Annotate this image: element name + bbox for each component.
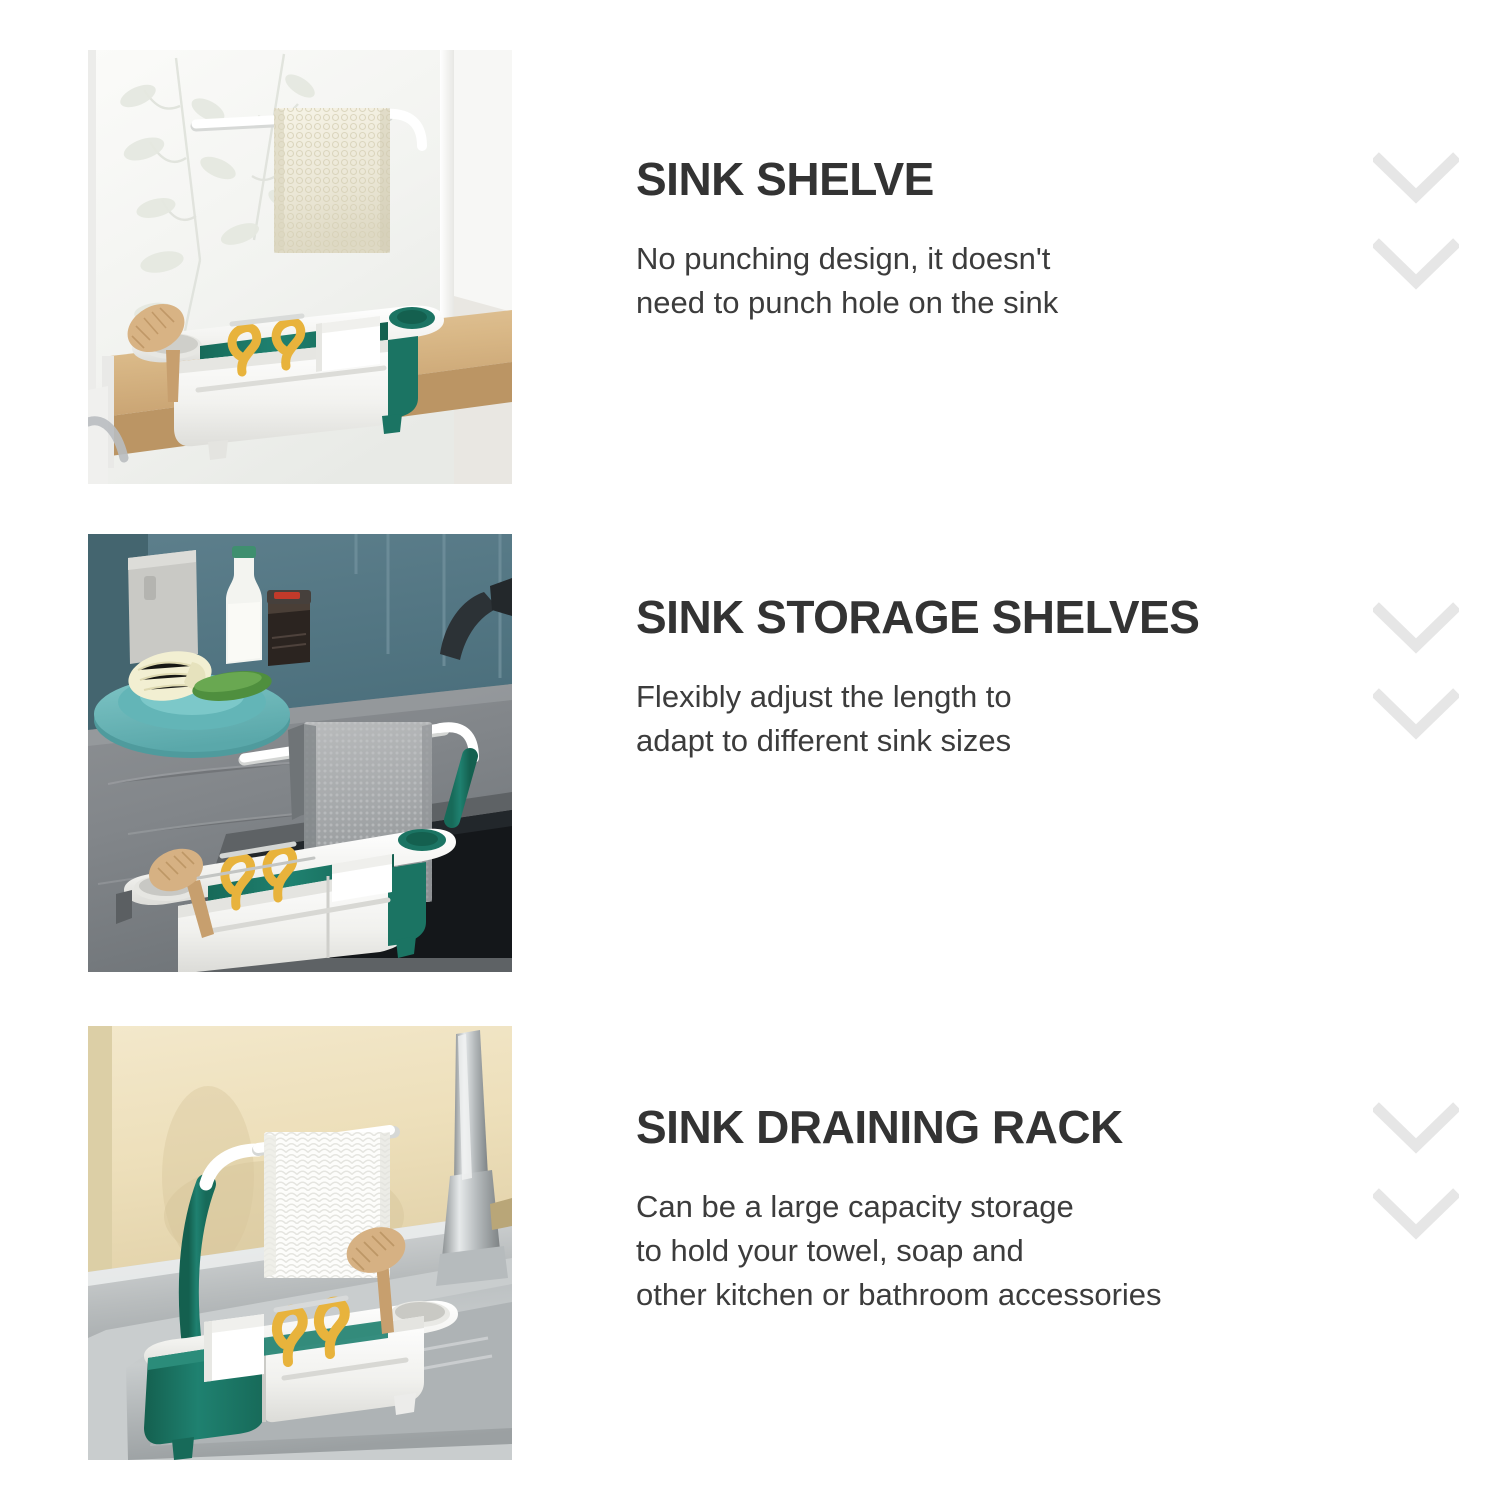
white-sponge	[204, 1314, 264, 1382]
chevron-down-icon	[1373, 236, 1459, 292]
feature-heading-1: SINK SHELVE	[636, 155, 1356, 203]
feature-body-line: to hold your towel, soap and	[636, 1229, 1356, 1273]
sink-draining-rack-on-steel-sink-photo	[88, 1026, 512, 1460]
chevron-group-3	[1373, 1100, 1459, 1242]
white-sponge	[316, 316, 380, 372]
feature-text-2: SINK STORAGE SHELVES Flexibly adjust the…	[636, 593, 1356, 763]
counter-scene-illustration	[88, 534, 512, 972]
jar	[267, 590, 311, 666]
chevron-down-icon	[1373, 1186, 1459, 1242]
feature-body-2: Flexibly adjust the length to adapt to d…	[636, 675, 1356, 763]
chevron-group-2	[1373, 600, 1459, 742]
feature-section-2: SINK STORAGE SHELVES Flexibly adjust the…	[0, 528, 1500, 978]
feature-heading-3: SINK DRAINING RACK	[636, 1103, 1356, 1151]
feature-body-line: Can be a large capacity storage	[636, 1185, 1356, 1229]
feature-text-3: SINK DRAINING RACK Can be a large capaci…	[636, 1103, 1356, 1317]
feature-section-1: SINK SHELVE No punching design, it doesn…	[0, 40, 1500, 490]
sink-storage-shelves-extended-photo	[88, 534, 512, 972]
chevron-down-icon	[1373, 686, 1459, 742]
windowsill-scene-illustration	[88, 50, 512, 484]
feature-body-line: No punching design, it doesn't	[636, 237, 1356, 281]
chevron-down-icon	[1373, 600, 1459, 656]
steel-sink-scene-illustration	[88, 1026, 512, 1460]
feature-body-3: Can be a large capacity storage to hold …	[636, 1185, 1356, 1317]
product-infographic-page: SINK SHELVE No punching design, it doesn…	[0, 0, 1500, 1500]
feature-section-3: SINK DRAINING RACK Can be a large capaci…	[0, 1018, 1500, 1468]
chevron-down-icon	[1373, 150, 1459, 206]
feature-body-line: need to punch hole on the sink	[636, 281, 1356, 325]
feature-text-1: SINK SHELVE No punching design, it doesn…	[636, 155, 1356, 325]
sink-shelve-on-windowsill-photo	[88, 50, 512, 484]
gray-container	[128, 550, 198, 664]
feature-heading-2: SINK STORAGE SHELVES	[636, 593, 1356, 641]
feature-body-line: other kitchen or bathroom accessories	[636, 1273, 1356, 1317]
feature-body-line: adapt to different sink sizes	[636, 719, 1356, 763]
chevron-down-icon	[1373, 1100, 1459, 1156]
chevron-group-1	[1373, 150, 1459, 292]
towel-cream	[274, 108, 390, 253]
feature-body-line: Flexibly adjust the length to	[636, 675, 1356, 719]
feature-body-1: No punching design, it doesn't need to p…	[636, 237, 1356, 325]
